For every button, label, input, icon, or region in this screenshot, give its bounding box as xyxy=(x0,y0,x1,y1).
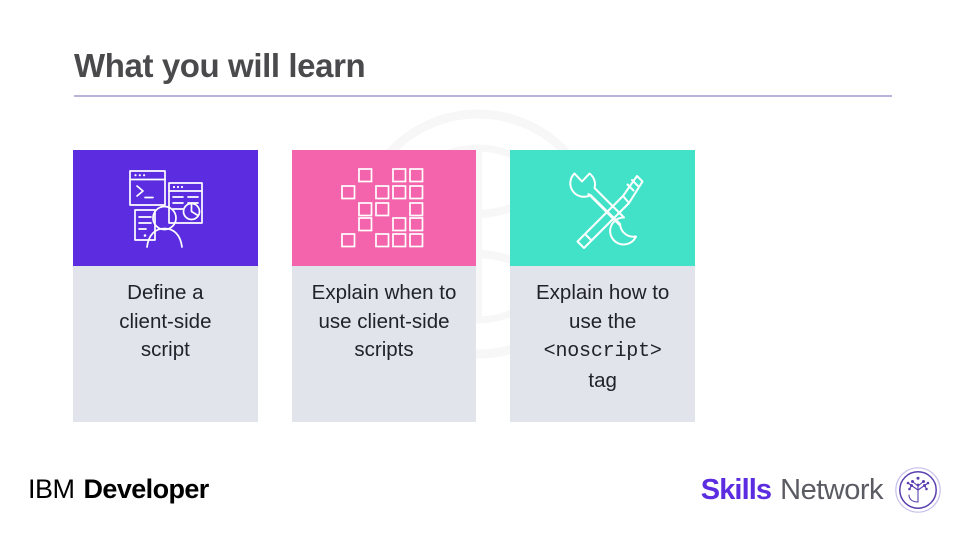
skills-network-tree-icon xyxy=(894,466,942,514)
card-line: scripts xyxy=(354,338,413,361)
skills-wordmark: Skills xyxy=(701,474,771,507)
card-line: Define a xyxy=(127,281,203,304)
card-body-3: Explain how to use the <noscript> tag xyxy=(510,266,695,422)
card-text-3: Explain how to use the <noscript> tag xyxy=(516,279,689,395)
card-line: tag xyxy=(588,369,617,392)
card-header-2 xyxy=(292,150,477,266)
title-block: What you will learn xyxy=(74,48,892,97)
objective-card: Explain how to use the <noscript> tag xyxy=(510,150,695,422)
card-line: use client-side xyxy=(318,310,449,333)
network-wordmark: Network xyxy=(780,474,883,507)
card-line: use the xyxy=(569,310,636,333)
ibm-wordmark: IBM xyxy=(28,474,75,505)
objective-card: Define a client-side script xyxy=(73,150,258,422)
developer-terminal-person-icon xyxy=(119,162,211,254)
wrench-screwdriver-tools-icon xyxy=(557,163,649,253)
card-text-1: Define a client-side script xyxy=(79,279,252,365)
title-divider xyxy=(74,95,892,97)
card-line: Explain when to xyxy=(312,281,457,304)
pixel-grid-icon xyxy=(340,166,428,250)
card-line: client-side xyxy=(119,310,211,333)
card-line: Explain how to xyxy=(536,281,669,304)
card-header-1 xyxy=(73,150,258,266)
card-body-2: Explain when to use client-side scripts xyxy=(292,266,477,422)
card-header-3 xyxy=(510,150,695,266)
page-title: What you will learn xyxy=(74,48,892,84)
developer-wordmark: Developer xyxy=(84,474,209,505)
slide-canvas: What you will learn xyxy=(0,0,960,540)
skills-network-logo: Skills Network xyxy=(701,466,942,514)
card-body-1: Define a client-side script xyxy=(73,266,258,422)
card-code-token: <noscript> xyxy=(544,340,662,363)
ibm-developer-logo: IBM Developer xyxy=(28,474,209,505)
objective-card: Explain when to use client-side scripts xyxy=(292,150,477,422)
card-text-2: Explain when to use client-side scripts xyxy=(298,279,471,365)
card-line: script xyxy=(141,338,190,361)
objective-card-list: Define a client-side script xyxy=(73,150,695,422)
